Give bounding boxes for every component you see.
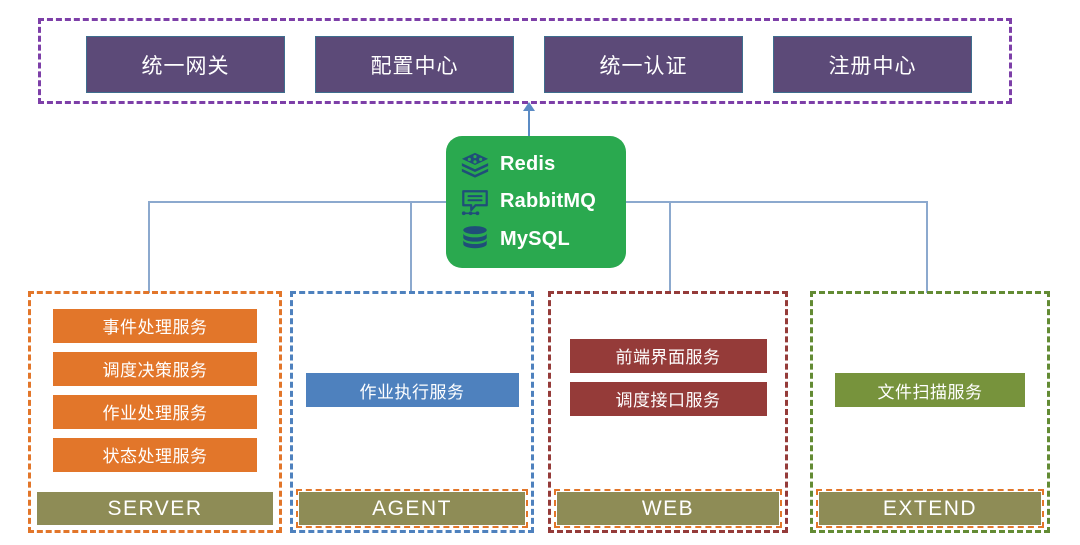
platform-box-label: 统一认证 [600,50,688,80]
service-group-extend: 文件扫描服务 EXTEND [810,291,1050,533]
platform-box-label: 统一网关 [142,50,230,80]
service-group-agent: 作业执行服务 AGENT [290,291,534,533]
group-footer-label: AGENT [372,497,452,521]
service-box-event-processing[interactable]: 事件处理服务 [53,309,257,343]
service-group-agent-body: 作业执行服务 [293,294,531,486]
service-label: 前端界面服务 [616,343,721,368]
middleware-item-label: RabbitMQ [500,190,596,213]
layers-stack-icon [460,150,490,180]
platform-box-unified-auth[interactable]: 统一认证 [544,36,743,93]
connector-bus-right [626,201,927,203]
connector-drop-extend [926,201,928,293]
group-footer-label: WEB [642,497,694,521]
service-box-schedule-api[interactable]: 调度接口服务 [570,382,767,416]
connector-drop-agent [410,201,412,293]
group-footer-label: SERVER [108,497,203,521]
middleware-item-label: MySQL [500,228,570,251]
middleware-item-redis[interactable]: Redis [460,148,626,182]
service-group-server-body: 事件处理服务 调度决策服务 作业处理服务 状态处理服务 [31,294,279,486]
group-footer-server: SERVER [37,492,273,525]
platform-layer-container: 统一网关 配置中心 统一认证 注册中心 [38,18,1012,104]
connector-drop-server [148,201,150,293]
group-footer-web: WEB [557,492,779,525]
connector-bus-left [148,201,446,203]
middleware-stack-box[interactable]: Redis RabbitMQ [446,136,626,268]
middleware-item-rabbitmq[interactable]: RabbitMQ [460,185,626,219]
service-label: 调度接口服务 [616,386,721,411]
middleware-item-mysql[interactable]: MySQL [460,222,626,256]
group-footer-extend: EXTEND [819,492,1041,525]
service-box-job-execution[interactable]: 作业执行服务 [306,373,519,407]
service-label: 文件扫描服务 [878,378,983,403]
service-group-server: 事件处理服务 调度决策服务 作业处理服务 状态处理服务 SERVER [28,291,282,533]
architecture-diagram-canvas: 统一网关 配置中心 统一认证 注册中心 [0,0,1080,545]
service-box-frontend-ui[interactable]: 前端界面服务 [570,339,767,373]
group-footer-agent: AGENT [299,492,525,525]
message-queue-icon [460,187,490,217]
arrow-stem-middleware-to-platform [528,110,530,138]
platform-box-label: 注册中心 [829,50,917,80]
service-label: 事件处理服务 [103,313,208,338]
platform-box-label: 配置中心 [371,50,459,80]
platform-box-registry-center[interactable]: 注册中心 [773,36,972,93]
service-box-file-scan[interactable]: 文件扫描服务 [835,373,1025,407]
connector-drop-web [669,201,671,293]
service-label: 调度决策服务 [103,356,208,381]
platform-box-config-center[interactable]: 配置中心 [315,36,514,93]
service-box-state-processing[interactable]: 状态处理服务 [53,438,257,472]
service-group-extend-body: 文件扫描服务 [813,294,1047,486]
service-label: 作业处理服务 [103,399,208,424]
service-group-web: 前端界面服务 调度接口服务 WEB [548,291,788,533]
database-cylinder-icon [460,224,490,254]
arrow-head-middleware-to-platform [523,102,535,111]
platform-box-unified-gateway[interactable]: 统一网关 [86,36,285,93]
service-box-schedule-decision[interactable]: 调度决策服务 [53,352,257,386]
service-box-job-processing[interactable]: 作业处理服务 [53,395,257,429]
service-label: 作业执行服务 [360,378,465,403]
service-label: 状态处理服务 [103,442,208,467]
group-footer-label: EXTEND [883,497,977,521]
middleware-item-label: Redis [500,153,555,176]
service-group-web-body: 前端界面服务 调度接口服务 [551,294,785,486]
